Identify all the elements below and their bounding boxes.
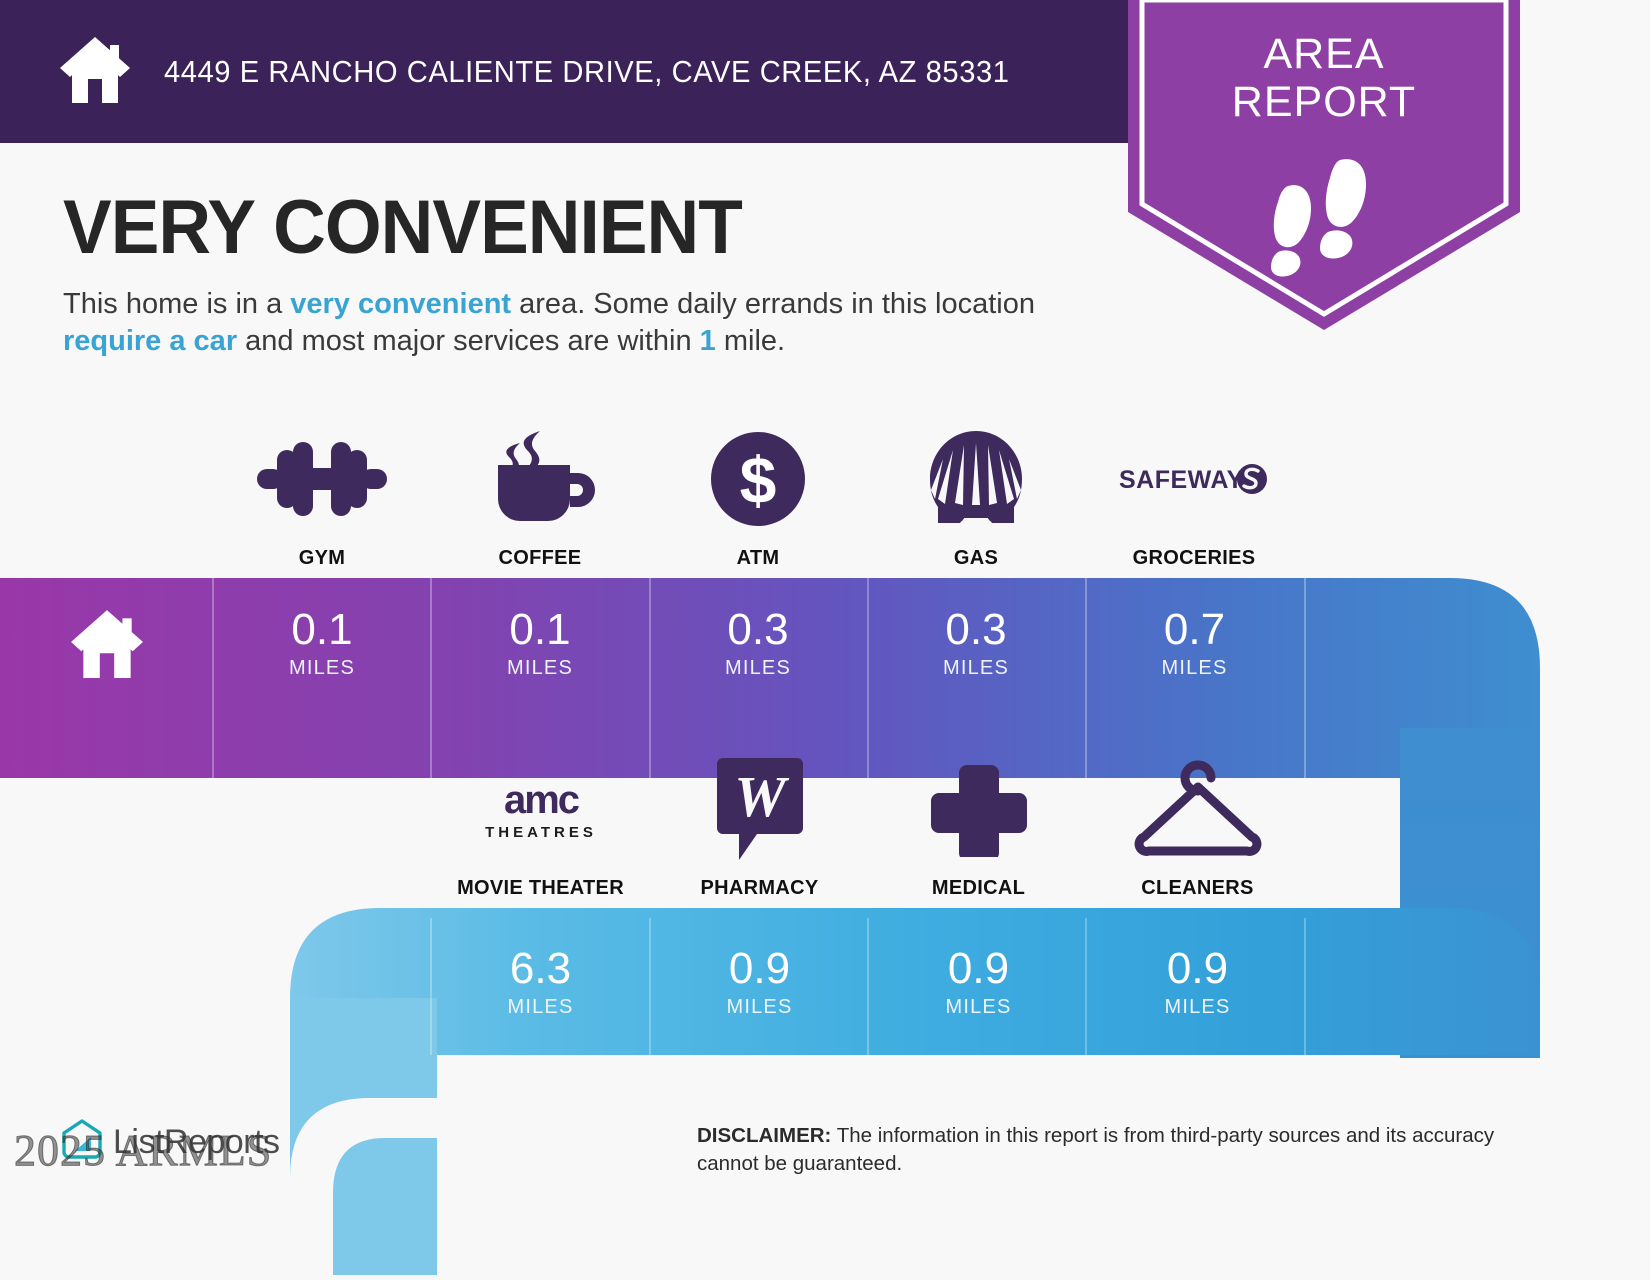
amenity-label: MOVIE THEATER (457, 877, 624, 900)
home-icon (58, 33, 132, 110)
distance-unit: MILES (725, 657, 791, 680)
area-report-badge: AREA REPORT (1128, 0, 1520, 330)
distance-unit: MILES (726, 996, 792, 1019)
distance-value: 0.9 (1167, 946, 1228, 992)
distance-value: 0.1 (509, 607, 570, 653)
summary-highlight-2: require a car (63, 325, 237, 357)
distance-cell: 0.1 MILES (213, 578, 431, 708)
svg-text:W: W (734, 764, 789, 829)
safeway-logo-icon: SAFEWAY (1119, 425, 1269, 533)
summary-part-1: This home is in a (63, 288, 290, 320)
distance-cell: 0.3 MILES (867, 578, 1085, 708)
amenity-movie-theater: amc THEATRES MOVIE THEATER (431, 755, 650, 900)
distance-unit: MILES (945, 996, 1011, 1019)
amenity-label: PHARMACY (701, 877, 819, 900)
amenity-gym: GYM (213, 425, 431, 570)
disclaimer: DISCLAIMER: The information in this repo… (697, 1122, 1507, 1178)
dollar-circle-icon: $ (709, 425, 807, 533)
amenity-coffee: COFFEE (431, 425, 649, 570)
amc-theatres-logo-icon: amc THEATRES (473, 755, 609, 863)
medical-cross-icon (931, 755, 1027, 863)
amenity-label: GAS (954, 547, 998, 570)
distance-row-top: 0.1 MILES 0.1 MILES 0.3 MILES 0.3 MILES … (213, 578, 1304, 708)
distance-value: 0.9 (729, 946, 790, 992)
disclaimer-label: DISCLAIMER: (697, 1124, 831, 1147)
summary-highlight-1: very convenient (290, 288, 511, 320)
amc-sub-wordmark: THEATRES (485, 824, 597, 841)
amenity-label: ATM (737, 547, 780, 570)
property-address: 4449 E RANCHO CALIENTE DRIVE, CAVE CREEK… (164, 54, 1010, 90)
distance-value: 0.3 (727, 607, 788, 653)
distance-unit: MILES (1161, 657, 1227, 680)
distance-row-bottom: 6.3 MILES 0.9 MILES 0.9 MILES 0.9 MILES (431, 917, 1307, 1047)
distance-cell: 0.9 MILES (869, 917, 1088, 1047)
summary-part-4: mile. (716, 325, 785, 357)
distance-cell: 6.3 MILES (431, 917, 650, 1047)
page-title: VERY CONVENIENT (63, 186, 742, 270)
amenity-pharmacy: W PHARMACY (650, 755, 869, 900)
distance-cell: 0.7 MILES (1085, 578, 1304, 708)
distance-value: 0.7 (1164, 607, 1225, 653)
amenity-label: GYM (299, 547, 345, 570)
distance-cell: 0.3 MILES (649, 578, 867, 708)
amenity-medical: MEDICAL (869, 755, 1088, 900)
distance-value: 6.3 (510, 946, 571, 992)
distance-cell: 0.9 MILES (1088, 917, 1307, 1047)
summary-highlight-3: 1 (700, 325, 716, 357)
summary-part-2: area. Some daily errands in this locatio… (511, 288, 1035, 320)
badge-line-2: REPORT (1128, 78, 1520, 126)
header-bar: 4449 E RANCHO CALIENTE DRIVE, CAVE CREEK… (0, 0, 1190, 143)
armls-watermark: 2025 ARMLS (14, 1125, 272, 1176)
badge-line-1: AREA (1128, 30, 1520, 78)
amenity-label: GROCERIES (1133, 547, 1256, 570)
clothes-hanger-icon (1134, 755, 1262, 863)
shell-logo-icon (924, 425, 1028, 533)
dumbbell-icon (253, 425, 391, 533)
start-home-marker (0, 578, 213, 708)
safeway-wordmark: SAFEWAY (1119, 466, 1244, 494)
svg-text:$: $ (740, 443, 777, 517)
summary-text: This home is in a very convenient area. … (63, 286, 1113, 360)
amenity-label: MEDICAL (932, 877, 1025, 900)
amenity-icon-row-bottom: amc THEATRES MOVIE THEATER W PHARMACY ME… (431, 755, 1307, 900)
amenity-label: COFFEE (499, 547, 582, 570)
amenity-cleaners: CLEANERS (1088, 755, 1307, 900)
amenity-icon-row-top: GYM COFFEE $ ATM (213, 425, 1303, 570)
coffee-cup-icon (484, 425, 596, 533)
amenity-atm: $ ATM (649, 425, 867, 570)
summary-part-3: and most major services are within (237, 325, 700, 357)
distance-unit: MILES (507, 996, 573, 1019)
distance-cell: 0.1 MILES (431, 578, 649, 708)
amenity-groceries: SAFEWAY GROCERIES (1085, 425, 1303, 570)
distance-unit: MILES (507, 657, 573, 680)
distance-unit: MILES (943, 657, 1009, 680)
amenity-label: CLEANERS (1141, 877, 1253, 900)
walgreens-logo-icon: W (717, 755, 803, 863)
distance-unit: MILES (289, 657, 355, 680)
distance-value: 0.1 (291, 607, 352, 653)
distance-cell: 0.9 MILES (650, 917, 869, 1047)
badge-label: AREA REPORT (1128, 30, 1520, 126)
distance-unit: MILES (1164, 996, 1230, 1019)
distance-value: 0.9 (948, 946, 1009, 992)
amenity-gas: GAS (867, 425, 1085, 570)
distance-value: 0.3 (945, 607, 1006, 653)
amc-wordmark: amc (503, 778, 579, 822)
